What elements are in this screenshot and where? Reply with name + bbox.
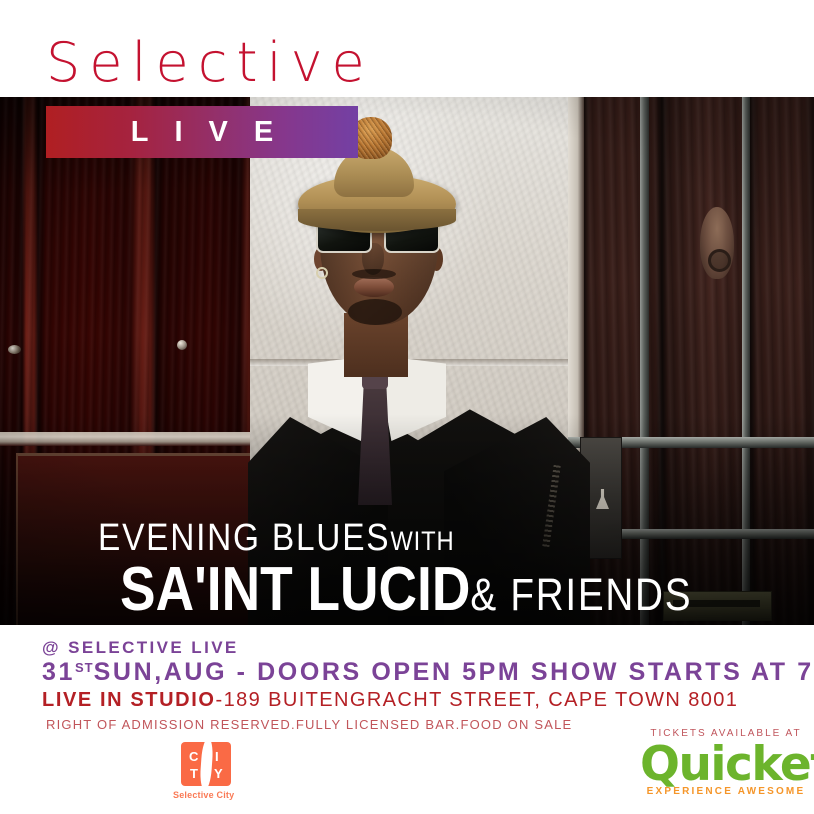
- info-date-time: 31STSUN,AUG - DOORS OPEN 5PM SHOW STARTS…: [42, 658, 814, 687]
- headline-artist-name: SA'INT LUCID: [120, 555, 470, 624]
- info-address-street: -189 BUITENGRACHT STREET, CAPE TOWN 8001: [216, 689, 739, 711]
- city-logo-wave: [199, 742, 214, 786]
- quicket-logo-block[interactable]: TICKETS AVAILABLE AT Quicket EXPERIENCE …: [640, 728, 812, 797]
- left-door-screw: [177, 340, 187, 350]
- info-date-ordinal: ST: [75, 660, 94, 675]
- subject-earring: [316, 267, 328, 279]
- city-logo-letter-y: Y: [214, 766, 223, 781]
- info-date-day: 31: [42, 658, 75, 686]
- left-door-knob: [8, 345, 21, 354]
- city-logo-letter-t: T: [190, 766, 198, 781]
- city-logo-letter-i: I: [215, 749, 219, 764]
- headline-line-2: SA'INT LUCID& FRIENDS: [120, 559, 717, 621]
- headline-line-1: EVENING BLUESWITH: [98, 519, 728, 557]
- poster-header: Selective: [0, 0, 814, 97]
- quicket-tagline: EXPERIENCE AWESOME: [640, 786, 812, 797]
- selective-city-logo[interactable]: C I T Y Selective City: [181, 742, 231, 800]
- info-venue: @ SELECTIVE LIVE: [42, 638, 239, 658]
- city-logo-letter-c: C: [189, 749, 198, 764]
- headline-line1-small: WITH: [390, 526, 454, 556]
- subject-lips: [354, 277, 394, 297]
- headline-block: EVENING BLUESWITH SA'INT LUCID& FRIENDS: [0, 519, 814, 621]
- live-label: LIVE: [46, 106, 358, 158]
- event-photo: EVENING BLUESWITH SA'INT LUCID& FRIENDS: [0, 97, 814, 625]
- city-logo-caption: Selective City: [173, 790, 231, 800]
- city-logo-mark: C I T Y: [181, 742, 231, 786]
- headline-and-friends: & FRIENDS: [470, 569, 692, 620]
- brand-wordmark: Selective: [46, 36, 374, 90]
- headline-line1-main: EVENING BLUES: [98, 517, 390, 559]
- quicket-wordmark: Quicket: [640, 741, 812, 788]
- info-address: LIVE IN STUDIO-189 BUITENGRACHT STREET, …: [42, 689, 738, 712]
- door-knocker-ring: [708, 249, 731, 272]
- left-door-rail: [0, 432, 262, 446]
- event-poster: Selective LIVE: [0, 0, 814, 814]
- info-address-venue: LIVE IN STUDIO: [42, 689, 216, 711]
- info-terms: RIGHT OF ADMISSION RESERVED.FULLY LICENS…: [46, 717, 572, 732]
- subject-beard: [348, 299, 402, 325]
- live-gradient-bar: LIVE: [46, 106, 358, 158]
- subject-hat-brim-edge: [298, 209, 456, 231]
- info-date-rest: SUN,AUG - DOORS OPEN 5PM SHOW STARTS AT …: [94, 658, 814, 686]
